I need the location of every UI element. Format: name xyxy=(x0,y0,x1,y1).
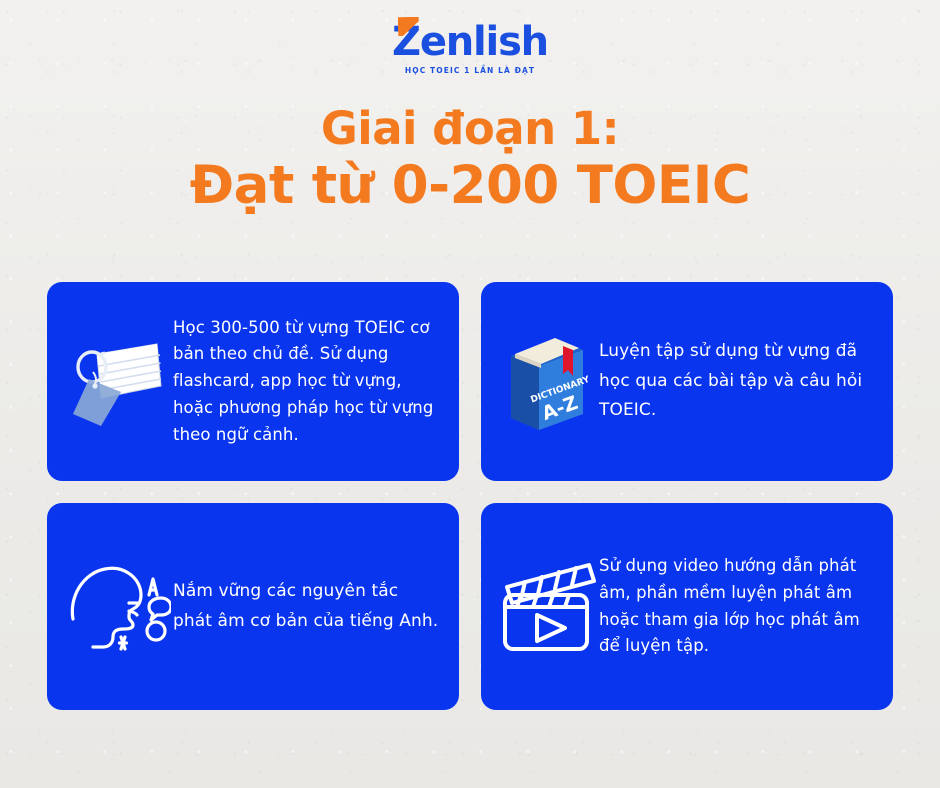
page-title-line-1: Giai đoạn 1: xyxy=(0,104,940,154)
card-practice: DICTIONARY A-Z Luyện tập sử dụng từ vựng… xyxy=(481,282,893,481)
card-practice-text: Luyện tập sử dụng từ vựng đã học qua các… xyxy=(599,337,879,426)
head-pronunciation-icon xyxy=(61,557,173,657)
card-video: Sử dụng video hướng dẫn phát âm, phần mề… xyxy=(481,503,893,710)
card-video-text: Sử dụng video hướng dẫn phát âm, phần mề… xyxy=(599,553,879,660)
logo-text: Zenlish xyxy=(392,19,548,65)
card-pronunciation: Nắm vững các nguyên tắc phát âm cơ bản c… xyxy=(47,503,459,710)
card-vocabulary-text: Học 300-500 từ vựng TOEIC cơ bản theo ch… xyxy=(173,315,445,449)
page-title: Giai đoạn 1: Đạt từ 0-200 TOEIC xyxy=(0,104,940,216)
logo-wordmark-container: Zenlish xyxy=(392,22,548,62)
logo-tagline: HỌC TOEIC 1 LẦN LÀ ĐẠT xyxy=(0,66,940,75)
flashcard-stack-icon xyxy=(61,334,173,430)
card-pronunciation-text: Nắm vững các nguyên tắc phát âm cơ bản c… xyxy=(173,577,445,637)
page-title-line-2: Đạt từ 0-200 TOEIC xyxy=(0,156,940,215)
clapperboard-play-icon xyxy=(495,557,599,657)
infographic-page: Zenlish HỌC TOEIC 1 LẦN LÀ ĐẠT Giai đoạn… xyxy=(0,0,940,788)
card-vocabulary: Học 300-500 từ vựng TOEIC cơ bản theo ch… xyxy=(47,282,459,481)
dictionary-book-icon: DICTIONARY A-Z xyxy=(495,330,599,434)
cards-grid: Học 300-500 từ vựng TOEIC cơ bản theo ch… xyxy=(47,282,893,710)
brand-logo: Zenlish HỌC TOEIC 1 LẦN LÀ ĐẠT xyxy=(0,22,940,75)
